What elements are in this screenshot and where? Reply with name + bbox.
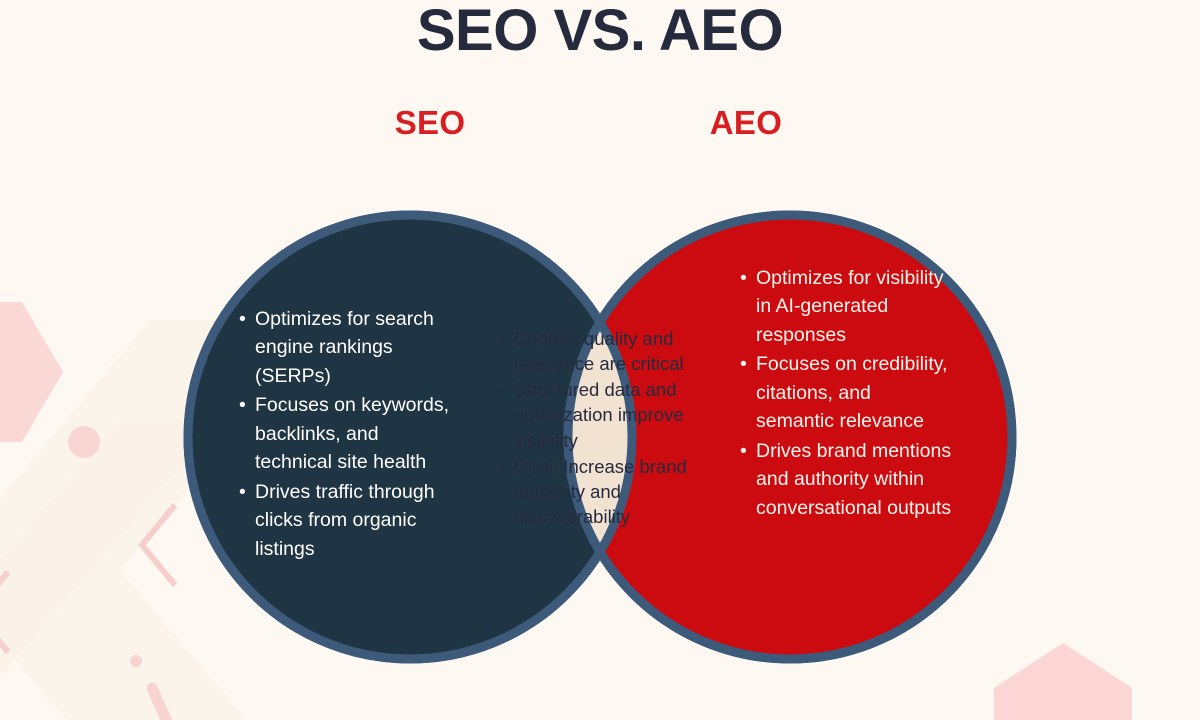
list-item: Optimizes for search engine rankings (SE… — [238, 305, 456, 390]
list-item: Goal: Increase brand authority and disco… — [497, 454, 697, 529]
list-item: Focuses on keywords, backlinks, and tech… — [238, 391, 456, 476]
venn-overlap-list: Content quality and relevance are critic… — [497, 326, 697, 530]
list-item: Optimizes for visibility in AI-generated… — [739, 264, 954, 349]
list-item: Content quality and relevance are critic… — [497, 326, 697, 376]
venn-right-list: Optimizes for visibility in AI-generated… — [739, 264, 954, 523]
list-item: Structured data and optimization improve… — [497, 377, 697, 452]
list-item: Focuses on credibility, citations, and s… — [739, 350, 954, 435]
list-item: Drives brand mentions and authority with… — [739, 437, 954, 522]
list-item: Drives traffic through clicks from organ… — [238, 478, 456, 563]
venn-left-list: Optimizes for search engine rankings (SE… — [238, 305, 456, 564]
